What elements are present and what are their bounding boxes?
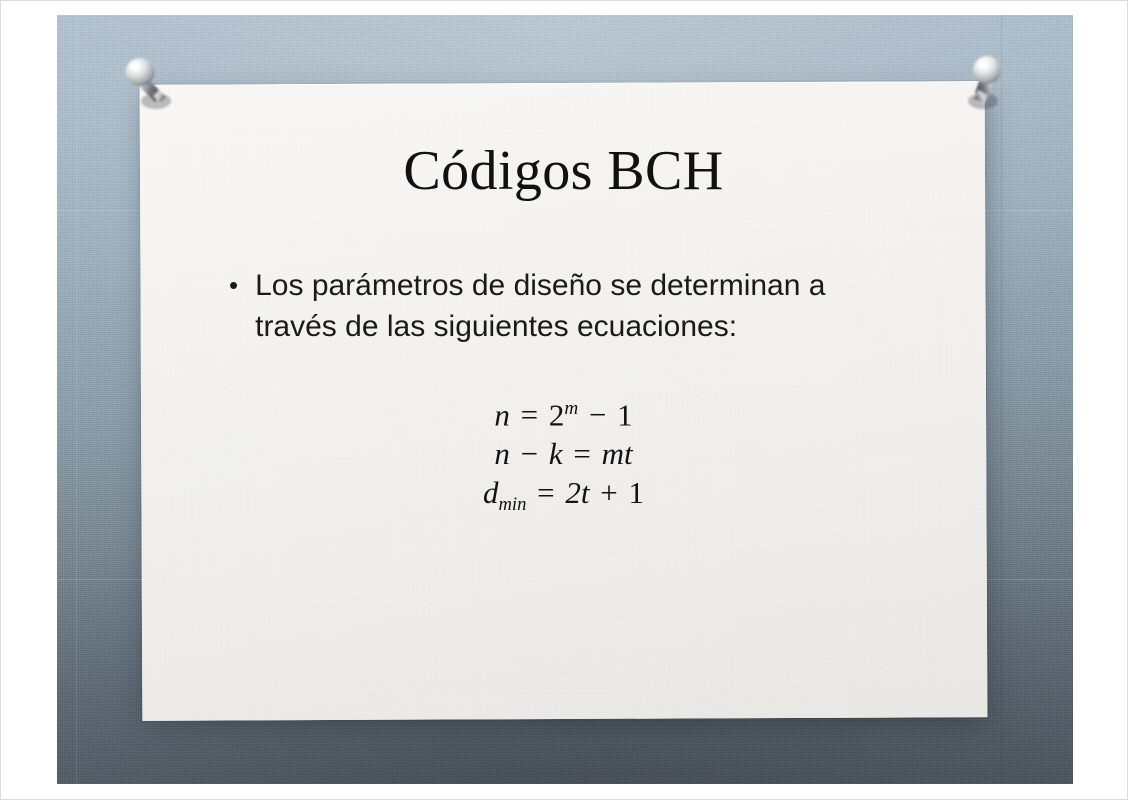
equation-nk-equals: =	[570, 436, 593, 471]
page-title: Códigos BCH	[141, 141, 986, 203]
equation-nk-operator: −	[518, 436, 541, 471]
background-seam-vertical-left	[76, 15, 77, 784]
equation-n-lhs: n	[494, 397, 510, 432]
equation-dmin-subscript: min	[499, 495, 527, 516]
slide-frame: Códigos BCH • Los parámetros de diseño s…	[0, 0, 1128, 800]
equation-n-minus-k: n − k = mt	[141, 434, 986, 473]
equation-nk-lhs-2: k	[549, 436, 563, 471]
equation-n-base: 2	[549, 397, 565, 432]
bullet-list: • Los parámetros de diseño se determinan…	[229, 265, 909, 347]
equation-n-exponent: m	[564, 398, 578, 419]
equation-dmin-equals: =	[534, 475, 557, 510]
list-item: • Los parámetros de diseño se determinan…	[229, 265, 909, 347]
equation-n-equals: =	[518, 397, 541, 432]
equation-dmin: dmin = 2t + 1	[141, 473, 986, 524]
equation-dmin-operator: +	[597, 475, 620, 510]
equation-nk-lhs-1: n	[494, 436, 510, 471]
equation-dmin-rhs-1: 2t	[565, 475, 589, 510]
equation-n: n = 2m − 1	[141, 389, 986, 434]
equation-n-operator: −	[586, 397, 609, 432]
equation-dmin-rhs-2: 1	[628, 475, 644, 510]
bullet-text: Los parámetros de diseño se determinan a…	[255, 265, 867, 347]
equation-dmin-lhs: d	[483, 475, 499, 510]
bullet-marker-icon: •	[229, 265, 238, 305]
background-seam-vertical-right	[1001, 15, 1002, 784]
equation-nk-rhs: mt	[602, 436, 633, 471]
equation-block: n = 2m − 1 n − k = mt dmin = 2t + 1	[141, 389, 986, 525]
equation-n-rhs: 1	[617, 397, 633, 432]
